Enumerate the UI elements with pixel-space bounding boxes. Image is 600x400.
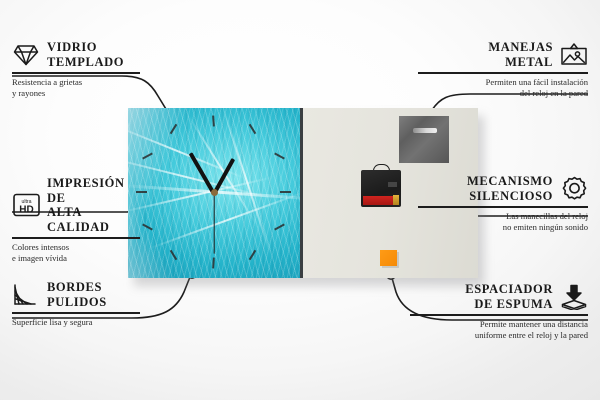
callout-espaciador-espuma: ESPACIADOR DE ESPUMA Permite mantener un… <box>410 282 588 340</box>
clock-tick <box>142 224 153 231</box>
callout-rule <box>418 206 588 208</box>
battery <box>363 196 394 205</box>
clock-tick <box>170 124 178 134</box>
callout-rule <box>12 312 140 314</box>
clock-tick <box>212 257 215 268</box>
callout-rule <box>12 72 140 74</box>
clock-tick <box>170 250 178 260</box>
clock-second-hand <box>213 194 214 254</box>
callout-title: ESPACIADOR DE ESPUMA <box>465 282 553 311</box>
callout-manejas-metal: MANEJAS METAL Permiten una fácil instala… <box>418 40 588 98</box>
diamond-icon <box>12 41 40 69</box>
callout-desc: Las manecillas del reloj no emiten ningú… <box>418 211 588 232</box>
callout-rule <box>410 314 588 316</box>
clock-center-cap <box>211 189 218 196</box>
clock-front-panel <box>128 108 303 278</box>
battery-terminal <box>393 195 399 205</box>
callout-vidrio-templado: VIDRIO TEMPLADO Resistencia a grietas y … <box>12 40 140 98</box>
product-infographic: VIDRIO TEMPLADO Resistencia a grietas y … <box>0 0 600 400</box>
polished-edges-icon <box>12 281 40 309</box>
callout-title: VIDRIO TEMPLADO <box>47 40 124 69</box>
callout-desc: Permiten una fácil instalación del reloj… <box>418 77 588 98</box>
clock-tick <box>274 153 285 160</box>
hanger-slot <box>413 128 437 133</box>
callout-desc: Permite mantener una distancia uniforme … <box>410 319 588 340</box>
callout-title: IMPRESIÓN DE ALTA CALIDAD <box>47 176 140 234</box>
callout-desc: Colores intensos e imagen vívida <box>12 242 140 263</box>
clock-tick <box>249 124 257 134</box>
clock-tick <box>274 224 285 231</box>
metal-hanger-plate <box>399 116 449 163</box>
callout-title: MANEJAS METAL <box>488 40 553 69</box>
picture-hanger-icon <box>560 41 588 69</box>
callout-mecanismo-silencioso: MECANISMO SILENCIOSO Las manecillas del … <box>418 174 588 232</box>
clock-tick <box>280 191 291 193</box>
clock-tick <box>212 115 215 126</box>
foam-spacer <box>380 250 397 266</box>
callout-desc: Superficie lisa y segura <box>12 317 140 327</box>
callout-impresion-alta-calidad: ultra HD IMPRESIÓN DE ALTA CALIDAD Color… <box>12 176 140 263</box>
mechanism-shaft <box>388 182 397 187</box>
callout-rule <box>12 237 140 239</box>
clock-tick <box>142 153 153 160</box>
gear-icon <box>560 175 588 203</box>
ultra-hd-icon: ultra HD <box>12 191 40 219</box>
callout-bordes-pulidos: BORDES PULIDOS Superficie lisa y segura <box>12 280 140 328</box>
clock-tick <box>249 250 257 260</box>
callout-rule <box>418 72 588 74</box>
foam-spacer-icon <box>560 283 588 311</box>
svg-text:HD: HD <box>19 205 33 216</box>
callout-title: BORDES PULIDOS <box>47 280 107 309</box>
callout-desc: Resistencia a grietas y rayones <box>12 77 140 98</box>
callout-title: MECANISMO SILENCIOSO <box>467 174 553 203</box>
